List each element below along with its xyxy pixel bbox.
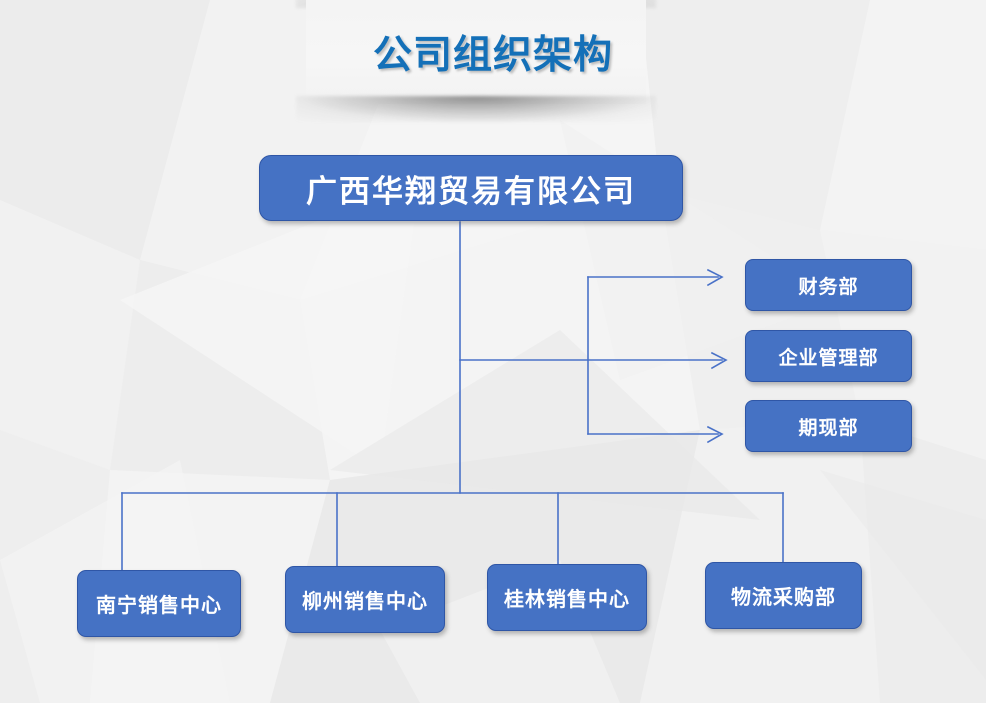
node-nanning-sales-center[interactable]: 南宁销售中心 <box>77 570 241 637</box>
node-logistics-procurement-department[interactable]: 物流采购部 <box>705 562 862 629</box>
node-guilin-sales-center[interactable]: 桂林销售中心 <box>487 564 647 631</box>
node-department-finance[interactable]: 财务部 <box>745 259 912 311</box>
node-department-enterprise-management[interactable]: 企业管理部 <box>745 330 912 382</box>
node-company-root[interactable]: 广西华翔贸易有限公司 <box>259 155 683 221</box>
node-department-futures-spot[interactable]: 期现部 <box>745 400 912 452</box>
org-chart-slide: 公司组织架构 广西华翔贸易有限公司 <box>0 0 986 703</box>
node-liuzhou-sales-center[interactable]: 柳州销售中心 <box>285 566 445 633</box>
